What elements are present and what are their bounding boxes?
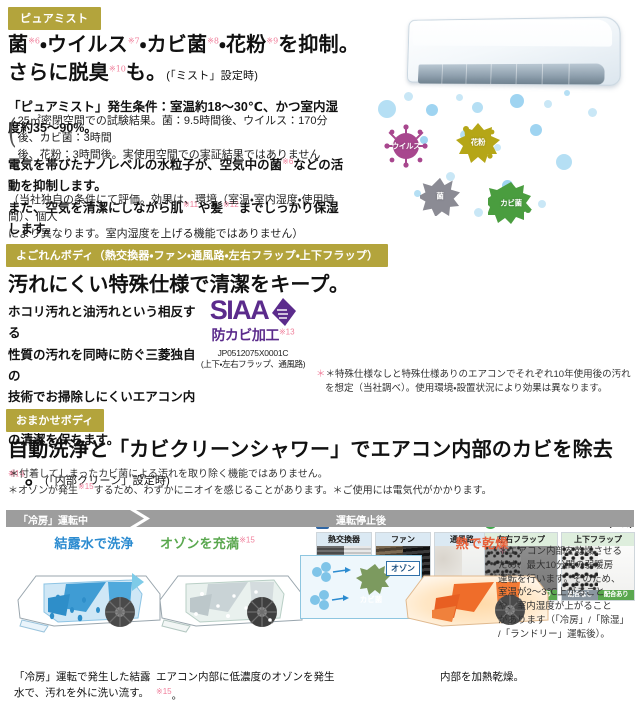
ac-internal-diagram-ozone-icon — [156, 564, 306, 634]
mist-bubble — [556, 154, 572, 170]
siaa-subtitle: 防カビ加工※13 — [188, 325, 318, 345]
stage-2-title: オゾンを充満※15 — [152, 533, 352, 552]
siaa-subtitle-text: 防カビ加工 — [211, 327, 279, 343]
section-pure-mist: ピュアミスト 菌※6・ウイルス※7・カビ菌※8・花粉※9を抑制。 さらに脱臭※1… — [0, 0, 640, 236]
ref-mark-15b: ※15 — [239, 536, 255, 545]
asterisk-icon: ＊ — [316, 369, 326, 380]
headline-pollen: ・花粉 — [219, 32, 266, 56]
section-tag-omakase-body: おまかせボディ — [6, 409, 104, 432]
ref-mark-10: ※10 — [109, 65, 126, 74]
headline-mold: ・カビ菌 — [140, 32, 208, 56]
ac-top-panel — [413, 19, 612, 46]
mist-bubble — [544, 100, 552, 108]
headline-virus: ・ウイルス — [40, 32, 128, 56]
stage-2-title-text: オゾンを充満 — [160, 536, 239, 551]
heat-dry-note: ＊＊エアコン内部を乾燥させる ため、最大10分間の弱暖房 運転を行います。そのた… — [498, 545, 636, 641]
ref-mark-9: ※9 — [266, 36, 278, 45]
section2-desc-line-2: 性質の汚れを同時に防ぐ三菱独自の — [8, 345, 198, 388]
ref-mark-13: ※13 — [279, 327, 295, 336]
omakase-note-2b: するため、わずかにニオイを感じることがあります。 — [94, 485, 333, 496]
stage-1-rinse: 結露水で洗浄 — [14, 533, 174, 702]
stage-1-title: 結露水で洗浄 — [14, 533, 174, 552]
disclaimer-line-1: （当社独自の条件にて評価。効果は、環境（室温・室内湿度・使用時間）、個人 — [8, 192, 353, 226]
stage-1-caption: 「冷房」運転で発生した結露 水で、汚れを外に洗い流す。 — [14, 670, 174, 702]
stage-2-illustration — [156, 558, 306, 640]
stage-1-caption-line-1: 「冷房」運転で発生した結露 — [14, 670, 174, 686]
mist-bubble — [404, 92, 413, 101]
mist-bubble — [564, 90, 570, 96]
ref-mark-15: ※15 — [78, 482, 94, 491]
headline-suppress: を抑制。 — [278, 32, 359, 56]
ref-mark-6b: ※6 — [282, 157, 293, 166]
germ-label-bacteria: 菌 — [420, 191, 460, 202]
test-result-line-1: 25㎡密閉空間での試験結果。菌：9.5時間後、ウイルス：170分後、カビ菌：3時… — [18, 113, 348, 147]
mist-bubble — [426, 104, 438, 116]
ozone-box-mold-label: カビ菌 — [349, 594, 393, 605]
omakase-note-2: ＊オゾンが発生※15するため、わずかにニオイを感じることがあります。＊ご使用には… — [8, 481, 492, 498]
desc-1a: 電気を帯びたナノレベルの水粒子が、空気中の菌 — [8, 158, 282, 172]
ref-mark-6: ※6 — [28, 36, 40, 45]
section1-headline: 菌※6・ウイルス※7・カビ菌※8・花粉※9を抑制。 さらに脱臭※10も。(「ミス… — [8, 30, 408, 87]
phase-label-cooling: 「冷房」運転中 — [18, 512, 88, 527]
stage-2-caption-text: エアコン内部に低濃度のオゾンを発生 — [156, 671, 335, 683]
heat-note-line-4: 室温が2〜3℃上がること — [498, 586, 636, 600]
mist-bubble — [456, 94, 463, 101]
chevron-right-icon — [130, 510, 156, 527]
omakase-note-1-text: ＊付着してしまったカビ菌による汚れを取り除く機能ではありません。 — [9, 469, 328, 480]
siaa-applicable-parts: (上下・左右フラップ、通風路) — [188, 358, 318, 370]
coating-note-line-1: ＊＊特殊仕様なしと特殊仕様ありのエアコンでそれぞれ10年使用後の汚れ — [316, 368, 636, 382]
heat-note-text-1: ＊エアコン内部を乾燥させる — [499, 546, 623, 557]
section-tag-pure-mist: ピュアミスト — [8, 7, 101, 30]
heat-note-line-5: や、室内湿度が上がること — [498, 600, 636, 614]
coating-note-text-1: ＊特殊仕様なしと特殊仕様ありのエアコンでそれぞれ10年使用後の汚れ — [326, 369, 631, 380]
mist-disclaimer: （当社独自の条件にて評価。効果は、環境（室温・室内湿度・使用時間）、個人 により… — [8, 192, 353, 243]
headline-deodorize: さらに脱臭 — [8, 60, 109, 84]
air-conditioner-illustration: ウイルス 花粉 菌 — [360, 4, 636, 234]
siaa-diamond-icon — [270, 298, 296, 326]
section2-desc-line-1: ホコリ汚れと油汚れという相反する — [8, 302, 198, 345]
mist-bubble — [588, 108, 597, 117]
omakase-note-2c: ＊ご使用には電気代がかかります。 — [333, 485, 492, 496]
mist-bubble — [474, 208, 483, 217]
germ-label-pollen: 花粉 — [456, 137, 500, 148]
section-omakase-body: おまかせボディ 自動洗浄と「カビクリーンシャワー」でエアコン内部のカビを除去※1… — [0, 405, 640, 680]
product-feature-page: ピュアミスト 菌※6・ウイルス※7・カビ菌※8・花粉※9を抑制。 さらに脱臭※1… — [0, 0, 640, 680]
mist-bubble — [530, 124, 542, 136]
headline-line-2: さらに脱臭※10も。(「ミスト」設定時) — [8, 58, 408, 86]
stage-2-caption: エアコン内部に低濃度のオゾンを発生※15。 — [152, 670, 352, 704]
heat-note-line-7: /「ランドリー」運転後）。 — [498, 628, 636, 642]
siaa-code: JP0512075X0001C — [188, 348, 318, 358]
siaa-wordmark: SIAA — [210, 298, 269, 324]
germ-virus: ウイルス — [384, 124, 428, 168]
mist-bubble — [472, 102, 483, 113]
stage-3-caption: 内部を加熱乾燥。 — [402, 670, 562, 686]
section3-headline-main: 自動洗浄と「カビクリーンシャワー」でエアコン内部のカビを除去 — [8, 437, 613, 461]
coating-note-line-2: を想定（当社調べ）。使用環境・設置状況により効果は異なります。 — [316, 382, 636, 396]
mist-bubble — [378, 100, 396, 118]
section-tag-yogoren-body: よごれんボディ（熱交換器・ファン・通風路・左右フラップ・上下フラップ） — [6, 244, 388, 267]
headline-kin: 菌 — [8, 32, 28, 56]
germ-label-virus: ウイルス — [384, 141, 428, 152]
germ-bacteria: 菌 — [420, 176, 460, 216]
headline-mo: も。 — [126, 60, 166, 84]
germ-label-mold: カビ菌 — [488, 198, 534, 209]
omakase-note-2a: ＊オゾンが発生 — [8, 485, 78, 496]
coating-note: ＊＊特殊仕様なしと特殊仕様ありのエアコンでそれぞれ10年使用後の汚れ を想定（当… — [316, 368, 636, 396]
process-phase-bar: 「冷房」運転中 運転停止後 — [6, 510, 634, 527]
heat-note-line-3: 運転を行います。そのため、 — [498, 573, 636, 587]
siaa-certification-mark: SIAA 防カビ加工※13 JP0512075X0001C (上下・左右フラップ… — [188, 298, 318, 370]
siaa-logo: SIAA — [188, 298, 318, 326]
process-arrow-icon — [132, 573, 144, 591]
germ-mold: カビ菌 — [488, 180, 534, 226]
heat-note-line-2: ため、最大10分間の弱暖房 — [498, 559, 636, 573]
headline-line-1: 菌※6・ウイルス※7・カビ菌※8・花粉※9を抑制。 — [8, 30, 408, 58]
heat-note-line-1: ＊＊エアコン内部を乾燥させる — [498, 545, 636, 559]
mist-bubble — [538, 200, 546, 208]
mist-bubble — [510, 94, 524, 108]
germ-pollen: 花粉 — [456, 120, 500, 164]
section-dirt-resistant-body: よごれんボディ（熱交換器・ファン・通風路・左右フラップ・上下フラップ） 汚れにく… — [0, 240, 640, 402]
ref-mark-15c: ※15 — [156, 687, 172, 696]
section2-headline: 汚れにくい特殊仕様で清潔をキープ。 — [8, 270, 349, 298]
phase-label-after-stop: 運転停止後 — [336, 512, 386, 527]
heat-note-line-6: があります（「冷房」/「除湿」 — [498, 614, 636, 628]
stage-1-caption-line-2: 水で、汚れを外に洗い流す。 — [14, 686, 174, 702]
stage-2-caption-period: 。 — [172, 689, 183, 701]
ref-mark-7: ※7 — [128, 36, 140, 45]
omakase-note-1: ＊＊付着してしまったカビ菌による汚れを取り除く機能ではありません。 — [8, 467, 328, 482]
ac-shadow — [406, 78, 601, 85]
stage-1-illustration — [14, 558, 164, 640]
ref-mark-8: ※8 — [207, 36, 219, 45]
headline-mist-mode-note: (「ミスト」設定時) — [166, 70, 258, 82]
section1-tag-wrap: ピュアミスト — [8, 7, 101, 30]
